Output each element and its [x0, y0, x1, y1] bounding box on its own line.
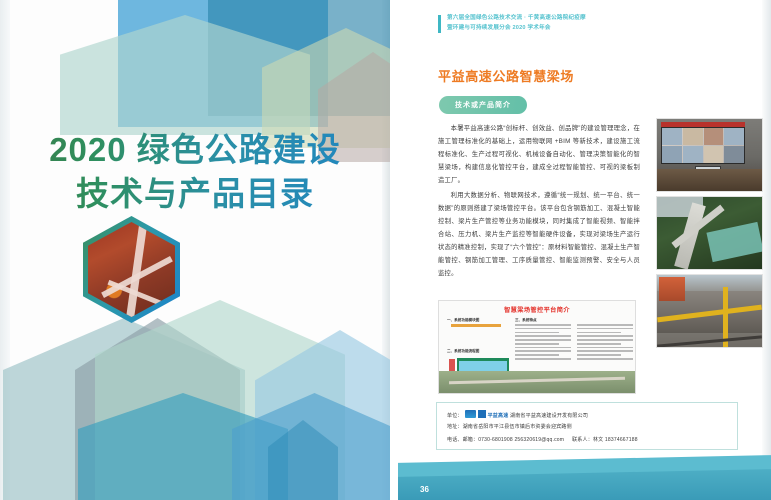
conference-header-line-1: 第六届全国绿色公路技术交流 · 千黄高速公路院纪疫摩: [447, 15, 586, 21]
photo-rail-track: [657, 335, 762, 347]
cover-title-line-2: 技术与产品目录: [0, 172, 390, 216]
slide-heading-1: 一、系统功能模块图: [447, 318, 479, 323]
cover-title-line-1: 2020 绿色公路建设: [0, 128, 390, 172]
cover-hexagon-photo: [83, 216, 180, 323]
conference-header-line-2: 暨环建与可持续发展分会 2020 学术年会: [447, 25, 551, 31]
body-text-column: 本署平益高速公路“创标杆、创效益、创品牌”的建设管理理念，在施工管理标准化的基础…: [438, 122, 640, 282]
slide-text-column-2: [577, 324, 633, 362]
slide-site-photo-band: [439, 371, 635, 393]
page-right-edge: [762, 0, 771, 500]
header-accent-bar: [438, 15, 441, 33]
section-title: 平益高速公路智慧梁场: [438, 66, 574, 85]
photo-video-wall-tiles: [662, 128, 744, 163]
contact-company-brand: 平益高速: [488, 413, 509, 419]
conference-header: 第六届全国绿色公路技术交流 · 千黄高速公路院纪疫摩 暨环建与可持续发展分会 2…: [438, 14, 688, 34]
photo-gantry-crane: [659, 277, 685, 301]
contact-address-label: 地址：: [447, 424, 463, 430]
contact-row-company: 单位：平益高速 湖南省平益高速建设开发有限公司: [447, 410, 588, 419]
contact-info-box: 单位：平益高速 湖南省平益高速建设开发有限公司 地址：湖南省岳阳市平江县伍市镇后…: [436, 402, 738, 450]
aerial-bridge-construction-photo: [656, 196, 763, 270]
slide-title: 智慧梁场管控平台简介: [439, 305, 635, 314]
catalog-content-page: 第六届全国绿色公路技术交流 · 千黄高速公路院纪疫摩 暨环建与可持续发展分会 2…: [398, 0, 771, 500]
slide-heading-2: 二、系统功能流程图: [447, 349, 479, 354]
company-mark-icon: [478, 410, 486, 418]
beam-yard-rail-track-photo: [656, 274, 763, 348]
page-footer-band: 36: [398, 466, 771, 500]
body-paragraph-2: 利用大数据分析、物联网技术，遵循“统一规划、统一平台、统一数据”的原则搭建了梁场…: [438, 189, 640, 280]
contact-row-address: 地址：湖南省岳阳市平江县伍市镇后市资委会迎宾路侧: [447, 423, 572, 430]
photo-river: [706, 222, 763, 262]
body-paragraph-1: 本署平益高速公路“创标杆、创效益、创品牌”的建设管理理念，在施工管理标准化的基础…: [438, 122, 640, 187]
contact-row-phone: 电话、邮箱：0730-6801908 256320619@qq.com 联系人：…: [447, 436, 638, 443]
cover-title: 2020 绿色公路建设 技术与产品目录: [0, 128, 390, 215]
document-spread-screenshot: 2020 绿色公路建设 技术与产品目录 第六届全国绿色公路技术交流 · 千黄高速…: [0, 0, 771, 500]
platform-overview-slide-image: 智慧梁场管控平台简介 一、系统功能模块图 三、系统特点 二、系统功能流程图: [438, 300, 636, 394]
conference-header-text: 第六届全国绿色公路技术交流 · 千黄高速公路院纪疫摩 暨环建与可持续发展分会 2…: [447, 14, 586, 34]
status-badge: 技术或产品简介: [439, 96, 527, 114]
slide-site-road: [449, 377, 625, 385]
contact-address-value: 湖南省岳阳市平江县伍市镇后市资委会迎宾路侧: [463, 424, 572, 430]
contact-phone-label: 电话、邮箱：: [447, 437, 478, 443]
contact-company-value: 湖南省平益高速建设开发有限公司: [510, 413, 588, 419]
catalog-cover-page: 2020 绿色公路建设 技术与产品目录: [0, 0, 390, 500]
company-logo-icon: [465, 410, 476, 418]
slide-heading-3: 三、系统特点: [515, 318, 537, 323]
contact-person-value: 林文 18374667188: [593, 437, 638, 443]
contact-phone-value: 0730-6801908 256320619@qq.com: [478, 437, 564, 443]
slide-text-column-1: [515, 324, 571, 362]
contact-company-label: 单位：: [447, 413, 463, 419]
page-number: 36: [420, 485, 429, 494]
contact-person-label: 联系人：: [572, 437, 593, 443]
control-room-video-wall-photo: [656, 118, 763, 192]
slide-module-header-bar: [451, 324, 501, 327]
photo-conference-table: [657, 169, 762, 191]
slide-module-blocks: [449, 325, 503, 343]
